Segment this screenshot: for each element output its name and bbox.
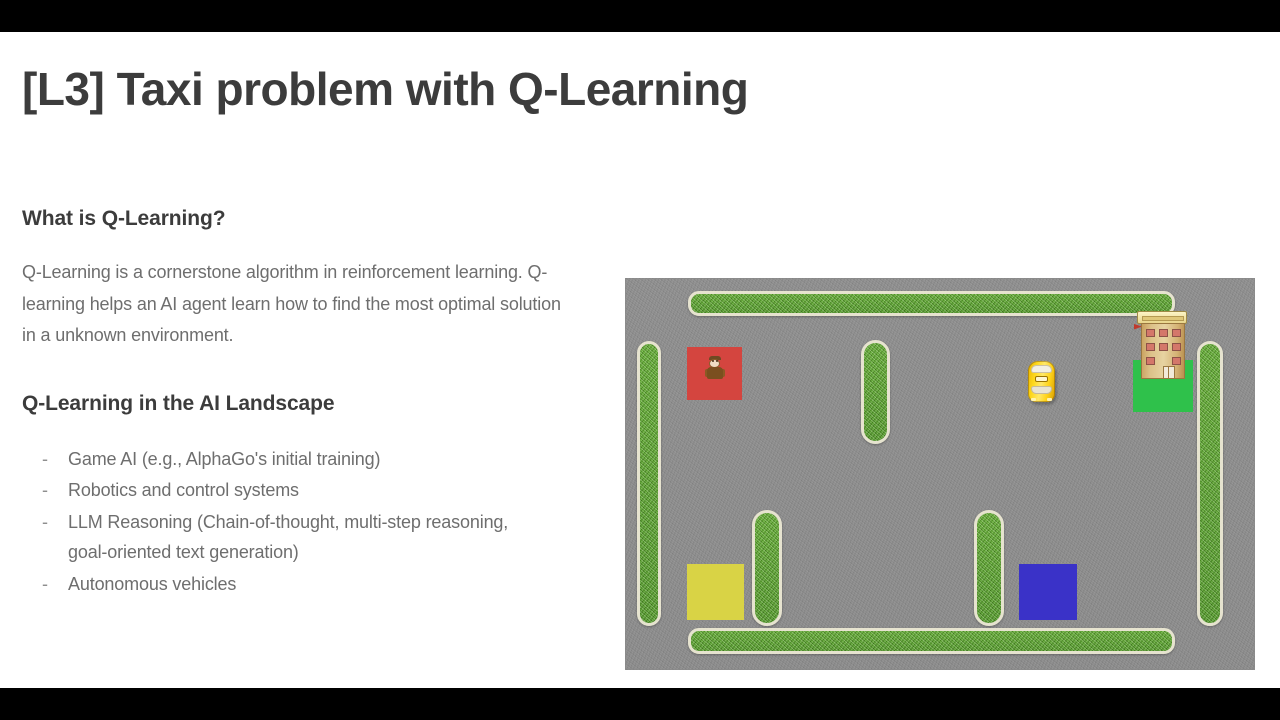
list-item: - Game AI (e.g., AlphaGo's initial train… bbox=[22, 444, 582, 475]
letterbox-top bbox=[0, 0, 1280, 32]
list-item: - LLM Reasoning (Chain-of-thought, multi… bbox=[22, 507, 582, 568]
letterbox-bottom bbox=[0, 688, 1280, 720]
hedge-lower-right bbox=[974, 510, 1004, 626]
slide-body-left-column: What is Q-Learning? Q-Learning is a corn… bbox=[22, 207, 582, 600]
building-window bbox=[1146, 343, 1155, 351]
hedge-right bbox=[1197, 341, 1223, 626]
building-window bbox=[1146, 357, 1155, 365]
taxi-light-right bbox=[1047, 398, 1052, 401]
taxi-sprite bbox=[1027, 360, 1057, 404]
dropoff-tile-yellow bbox=[687, 564, 744, 620]
building-facade bbox=[1141, 323, 1185, 379]
building-window bbox=[1172, 357, 1181, 365]
taxi-environment-image bbox=[625, 278, 1255, 670]
list-item: - Autonomous vehicles bbox=[22, 569, 582, 600]
slide-canvas: [L3] Taxi problem with Q-Learning What i… bbox=[0, 32, 1280, 688]
slide-root: [L3] Taxi problem with Q-Learning What i… bbox=[0, 0, 1280, 720]
building-sign-inner bbox=[1142, 316, 1184, 321]
passenger-eye-right bbox=[716, 360, 718, 362]
list-item-label: LLM Reasoning (Chain-of-thought, multi-s… bbox=[68, 507, 538, 568]
taxi-windshield bbox=[1031, 365, 1052, 373]
taxi-roof-sign bbox=[1035, 376, 1048, 382]
building-sprite bbox=[1136, 311, 1188, 379]
building-window bbox=[1146, 329, 1155, 337]
list-item-label: Robotics and control systems bbox=[68, 475, 538, 506]
list-item-label: Game AI (e.g., AlphaGo's initial trainin… bbox=[68, 444, 538, 475]
bullet-marker-icon: - bbox=[22, 475, 68, 506]
hedge-left bbox=[637, 341, 661, 626]
building-window bbox=[1159, 329, 1168, 337]
page-title: [L3] Taxi problem with Q-Learning bbox=[22, 62, 748, 116]
list-item-label: Autonomous vehicles bbox=[68, 569, 538, 600]
building-window bbox=[1172, 343, 1181, 351]
passenger-body bbox=[707, 367, 723, 379]
taxi-rear-window bbox=[1031, 386, 1052, 394]
hedge-upper-middle bbox=[861, 340, 890, 444]
bullet-list: - Game AI (e.g., AlphaGo's initial train… bbox=[22, 444, 582, 600]
passenger-eye-left bbox=[712, 360, 714, 362]
section-heading-ai-landscape: Q-Learning in the AI Landscape bbox=[22, 392, 582, 416]
dropoff-tile-blue bbox=[1019, 564, 1077, 620]
hedge-lower-left bbox=[752, 510, 782, 626]
hedge-top bbox=[688, 291, 1175, 316]
hedge-bottom bbox=[688, 628, 1175, 654]
pickup-tile-red bbox=[687, 347, 742, 400]
bullet-marker-icon: - bbox=[22, 507, 68, 538]
section-heading-what-is-q-learning: What is Q-Learning? bbox=[22, 207, 582, 231]
intro-paragraph: Q-Learning is a cornerstone algorithm in… bbox=[22, 257, 567, 352]
taxi-light-left bbox=[1031, 398, 1036, 401]
building-window bbox=[1172, 329, 1181, 337]
building-window bbox=[1159, 343, 1168, 351]
bullet-marker-icon: - bbox=[22, 569, 68, 600]
building-door bbox=[1163, 366, 1175, 379]
passenger-sprite bbox=[706, 356, 724, 380]
bullet-marker-icon: - bbox=[22, 444, 68, 475]
list-item: - Robotics and control systems bbox=[22, 475, 582, 506]
